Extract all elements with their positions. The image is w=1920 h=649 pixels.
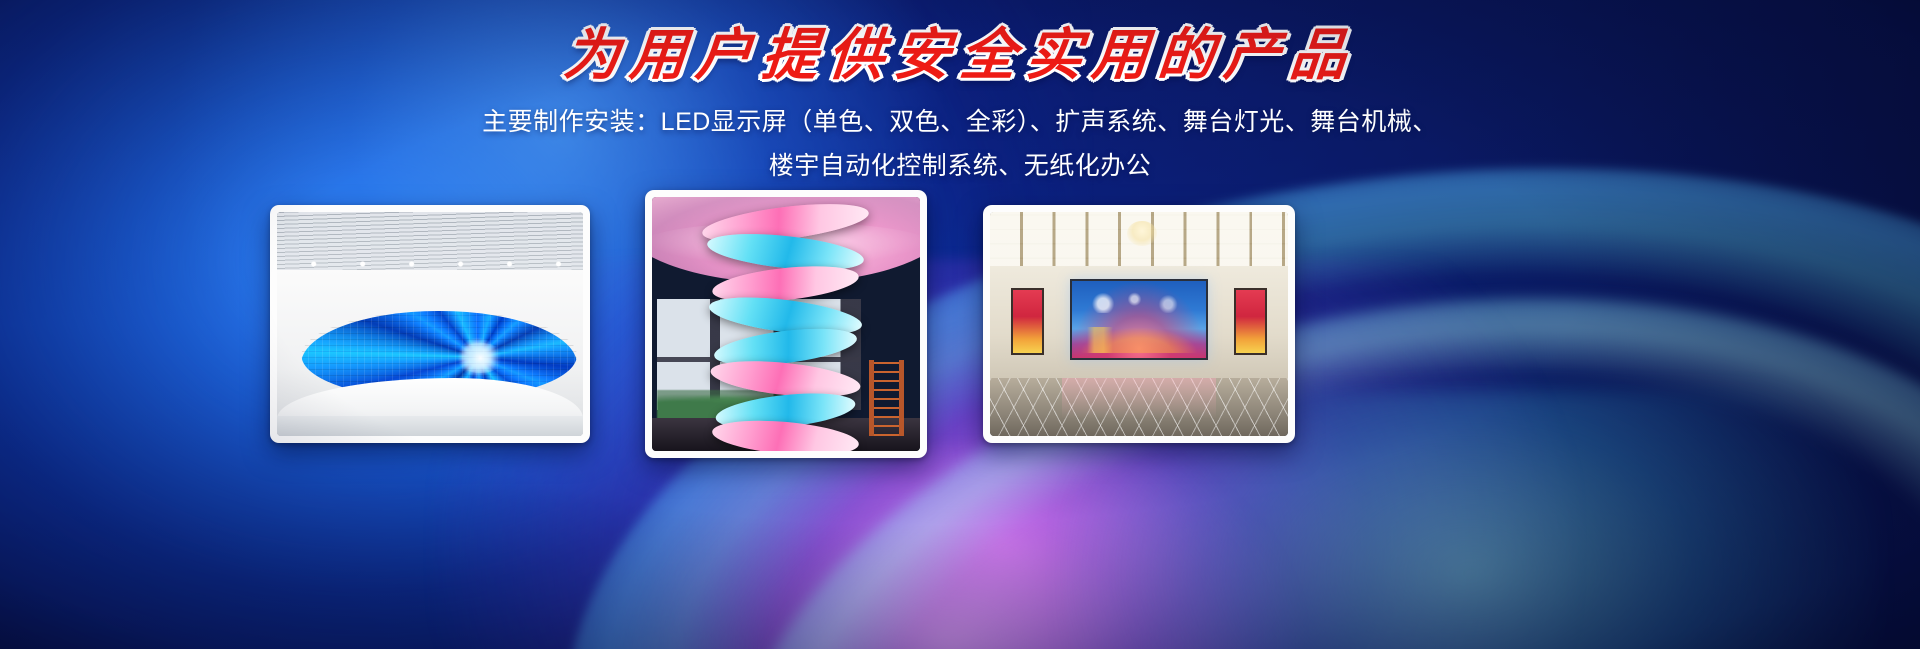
left-led-panel	[1011, 288, 1044, 355]
photo-card-spiral-led-column[interactable]	[645, 190, 927, 458]
photo-card-eye-shaped-led-display[interactable]	[270, 205, 590, 443]
spiral-helix-led-column-image	[652, 197, 920, 451]
photo-card-gallery	[0, 0, 1920, 649]
ceiling-slats	[277, 212, 583, 279]
right-led-panel	[1234, 288, 1267, 355]
led-promo-banner: 为用户提供安全实用的产品 主要制作安装：LED显示屏（单色、双色、全彩）、扩声系…	[0, 0, 1920, 649]
photo-card-conference-hall-led[interactable]	[983, 205, 1295, 443]
conference-hall-led-screens-image	[990, 212, 1288, 436]
eye-shaped-curved-led-display-image	[277, 212, 583, 436]
polished-floor	[990, 378, 1288, 436]
helix-led-ribbon	[684, 202, 888, 446]
floor-strip	[277, 416, 583, 436]
step-ladder	[869, 360, 904, 436]
main-led-screen	[1070, 279, 1207, 360]
chandelier	[1127, 221, 1157, 246]
banner-content: 为用户提供安全实用的产品 主要制作安装：LED显示屏（单色、双色、全彩）、扩声系…	[0, 0, 1920, 649]
